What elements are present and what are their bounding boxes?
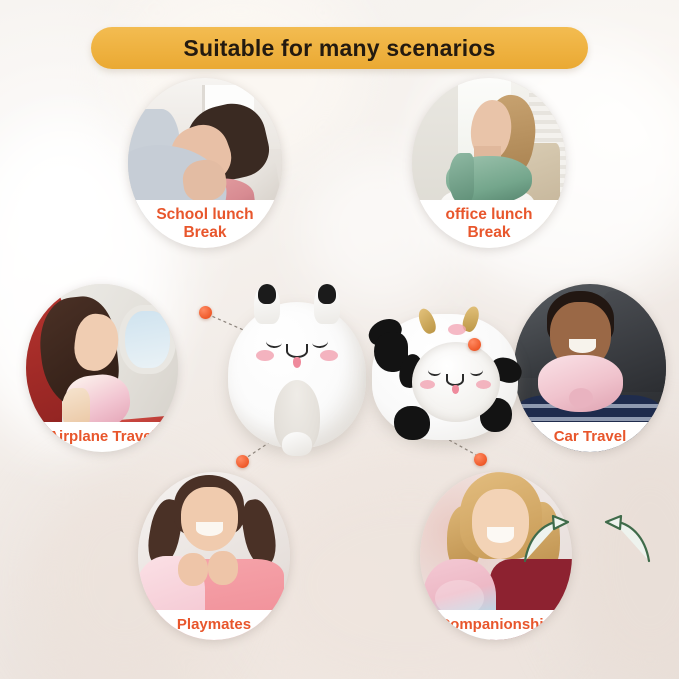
cow-folded-plush [372, 306, 518, 446]
connector-dot-airplane [199, 306, 212, 319]
caption-line-2: Break [183, 224, 226, 242]
product-showcase [222, 272, 522, 472]
sidebar-item-office-lunch-break[interactable]: office lunch Break [412, 78, 566, 248]
product-infographic-poster: Suitable for many scenarios School lunch… [0, 0, 679, 679]
caption-line-1: Airplane Travel [48, 428, 156, 446]
page-title: Suitable for many scenarios [183, 35, 495, 62]
cat-mouth-icon [286, 344, 308, 358]
cat-cheek-right-icon [320, 350, 338, 361]
cat-ear-right-icon [314, 284, 340, 324]
caption-playmates: Playmates [138, 610, 290, 640]
sidebar-item-car-travel[interactable]: Car Travel [514, 284, 666, 452]
cow-tongue-icon [452, 385, 459, 394]
caption-line-2: Break [467, 224, 510, 242]
header-banner: Suitable for many scenarios [91, 27, 588, 69]
caption-office-lunch-break: office lunch Break [412, 200, 566, 248]
connector-dot-playmates [236, 455, 249, 468]
caption-line-1: School lunch [156, 206, 253, 224]
cow-cheek-right-icon [476, 380, 491, 389]
cat-ear-left-icon [254, 284, 280, 324]
caption-car-travel: Car Travel [514, 422, 666, 452]
caption-line-1: office lunch [446, 206, 533, 224]
caption-line-1: Playmates [177, 616, 251, 634]
cow-cheek-left-icon [420, 380, 435, 389]
cat-cheek-left-icon [256, 350, 274, 361]
caption-companionship: Companionship [420, 610, 572, 640]
sidebar-item-school-lunch-break[interactable]: School lunch Break [128, 78, 282, 248]
transform-arrows-icon [521, 515, 653, 565]
caption-school-lunch-break: School lunch Break [128, 200, 282, 248]
sidebar-item-airplane-travel[interactable]: Airplane Travel [26, 284, 178, 452]
cat-u-shaped-neck-pillow [228, 284, 366, 454]
caption-line-1: Car Travel [554, 428, 627, 446]
connector-dot-car [468, 338, 481, 351]
cat-tongue-icon [293, 357, 301, 368]
caption-airplane-travel: Airplane Travel [26, 422, 178, 452]
sidebar-item-playmates[interactable]: Playmates [138, 472, 290, 640]
connector-dot-companionship [474, 453, 487, 466]
caption-line-1: Companionship [439, 616, 552, 634]
